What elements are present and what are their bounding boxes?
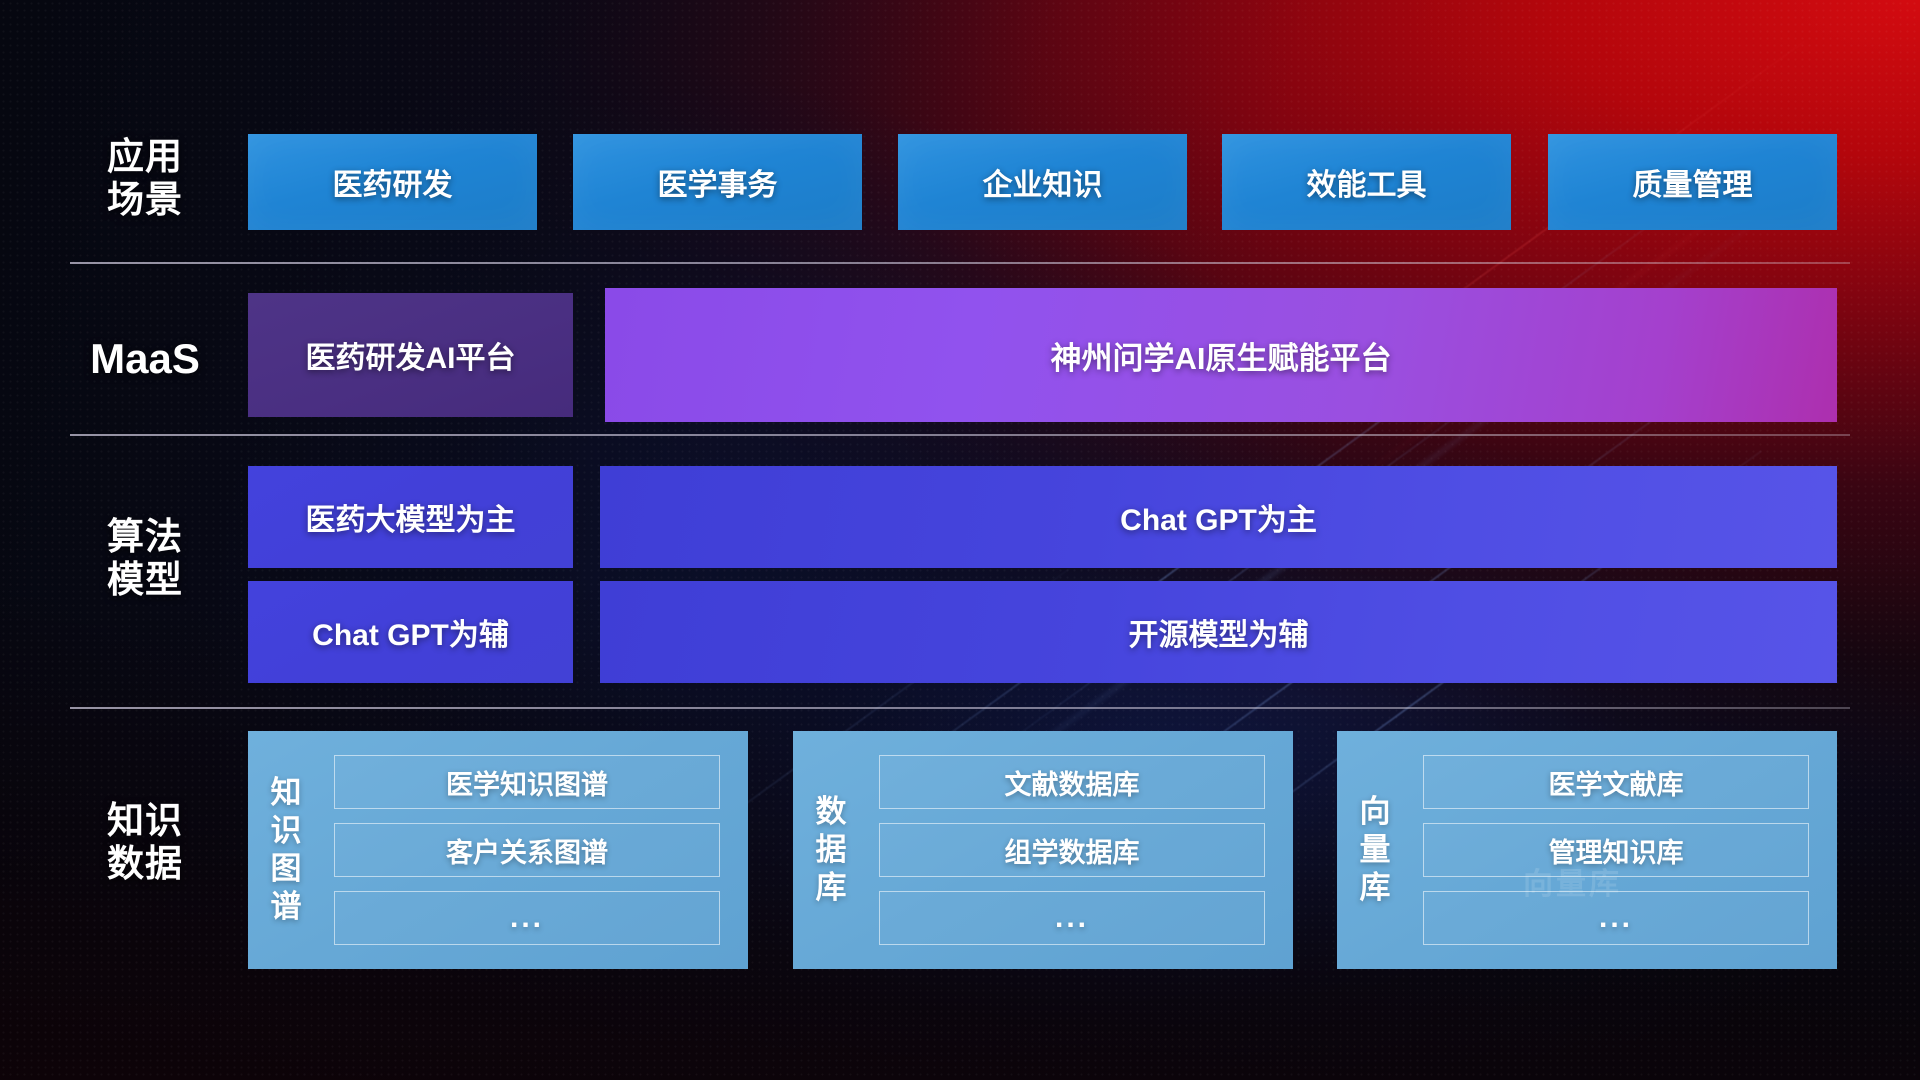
panel-item-list: 文献数据库 组学数据库 ...	[871, 737, 1293, 963]
panel-item-medical-literature-library[interactable]: 医学文献库	[1423, 755, 1809, 809]
row-label-line-1: 应用	[70, 136, 220, 179]
knowledge-panel-database[interactable]: 数据库 文献数据库 组学数据库 ...	[793, 731, 1293, 969]
panel-item-customer-relation-graph[interactable]: 客户关系图谱	[334, 823, 720, 877]
panel-item-more[interactable]: ...	[334, 891, 720, 945]
row-label-application-scenario: 应用 场景	[70, 136, 220, 222]
row-label-line-2: 数据	[70, 843, 220, 886]
row-label-algorithm-model: 算法 模型	[70, 516, 220, 602]
algo-box-chatgpt-primary[interactable]: Chat GPT为主	[600, 466, 1837, 568]
separator-row-2	[70, 434, 1850, 436]
panel-item-management-knowledge-library[interactable]: 管理知识库	[1423, 823, 1809, 877]
separator-row-1	[70, 262, 1850, 264]
panel-item-literature-database[interactable]: 文献数据库	[879, 755, 1265, 809]
panel-side-label-knowledge-graph: 知识图谱	[248, 774, 326, 925]
row-label-knowledge-data: 知识 数据	[70, 800, 220, 886]
panel-side-label-database: 数据库	[793, 793, 871, 906]
separator-row-3	[70, 707, 1850, 709]
knowledge-panel-knowledge-graph[interactable]: 知识图谱 医学知识图谱 客户关系图谱 ...	[248, 731, 748, 969]
panel-item-list: 医学知识图谱 客户关系图谱 ...	[326, 737, 748, 963]
panel-item-more[interactable]: ...	[879, 891, 1265, 945]
panel-item-medical-knowledge-graph[interactable]: 医学知识图谱	[334, 755, 720, 809]
app-tile-enterprise-knowledge[interactable]: 企业知识	[898, 134, 1187, 230]
app-tile-efficiency-tools[interactable]: 效能工具	[1222, 134, 1511, 230]
row-label-line-2: 模型	[70, 559, 220, 602]
panel-item-more[interactable]: ...	[1423, 891, 1809, 945]
maas-box-medical-rd-ai-platform[interactable]: 医药研发AI平台	[248, 293, 573, 417]
row-label-maas: MaaS	[70, 335, 220, 384]
maas-box-shenzhou-wenxue-platform[interactable]: 神州问学AI原生赋能平台	[605, 288, 1837, 422]
app-tile-medical-rd[interactable]: 医药研发	[248, 134, 537, 230]
panel-item-list: 医学文献库 管理知识库 ...	[1415, 737, 1837, 963]
slide-canvas: 应用 场景 医药研发 医学事务 企业知识 效能工具 质量管理 MaaS 医药研发…	[0, 0, 1920, 1080]
panel-item-omics-database[interactable]: 组学数据库	[879, 823, 1265, 877]
knowledge-panel-vector-library[interactable]: 向量库 医学文献库 管理知识库 ... 向量库	[1337, 731, 1837, 969]
row-label-line-2: 场景	[70, 179, 220, 222]
app-tile-quality-management[interactable]: 质量管理	[1548, 134, 1837, 230]
algo-box-open-source-secondary[interactable]: 开源模型为辅	[600, 581, 1837, 683]
panel-side-label-vector-library: 向量库	[1337, 793, 1415, 906]
row-label-line-1: 算法	[70, 516, 220, 559]
row-label-line-1: 知识	[70, 800, 220, 843]
algo-box-chatgpt-secondary[interactable]: Chat GPT为辅	[248, 581, 573, 683]
app-tile-medical-affairs[interactable]: 医学事务	[573, 134, 862, 230]
algo-box-medical-large-model-primary[interactable]: 医药大模型为主	[248, 466, 573, 568]
